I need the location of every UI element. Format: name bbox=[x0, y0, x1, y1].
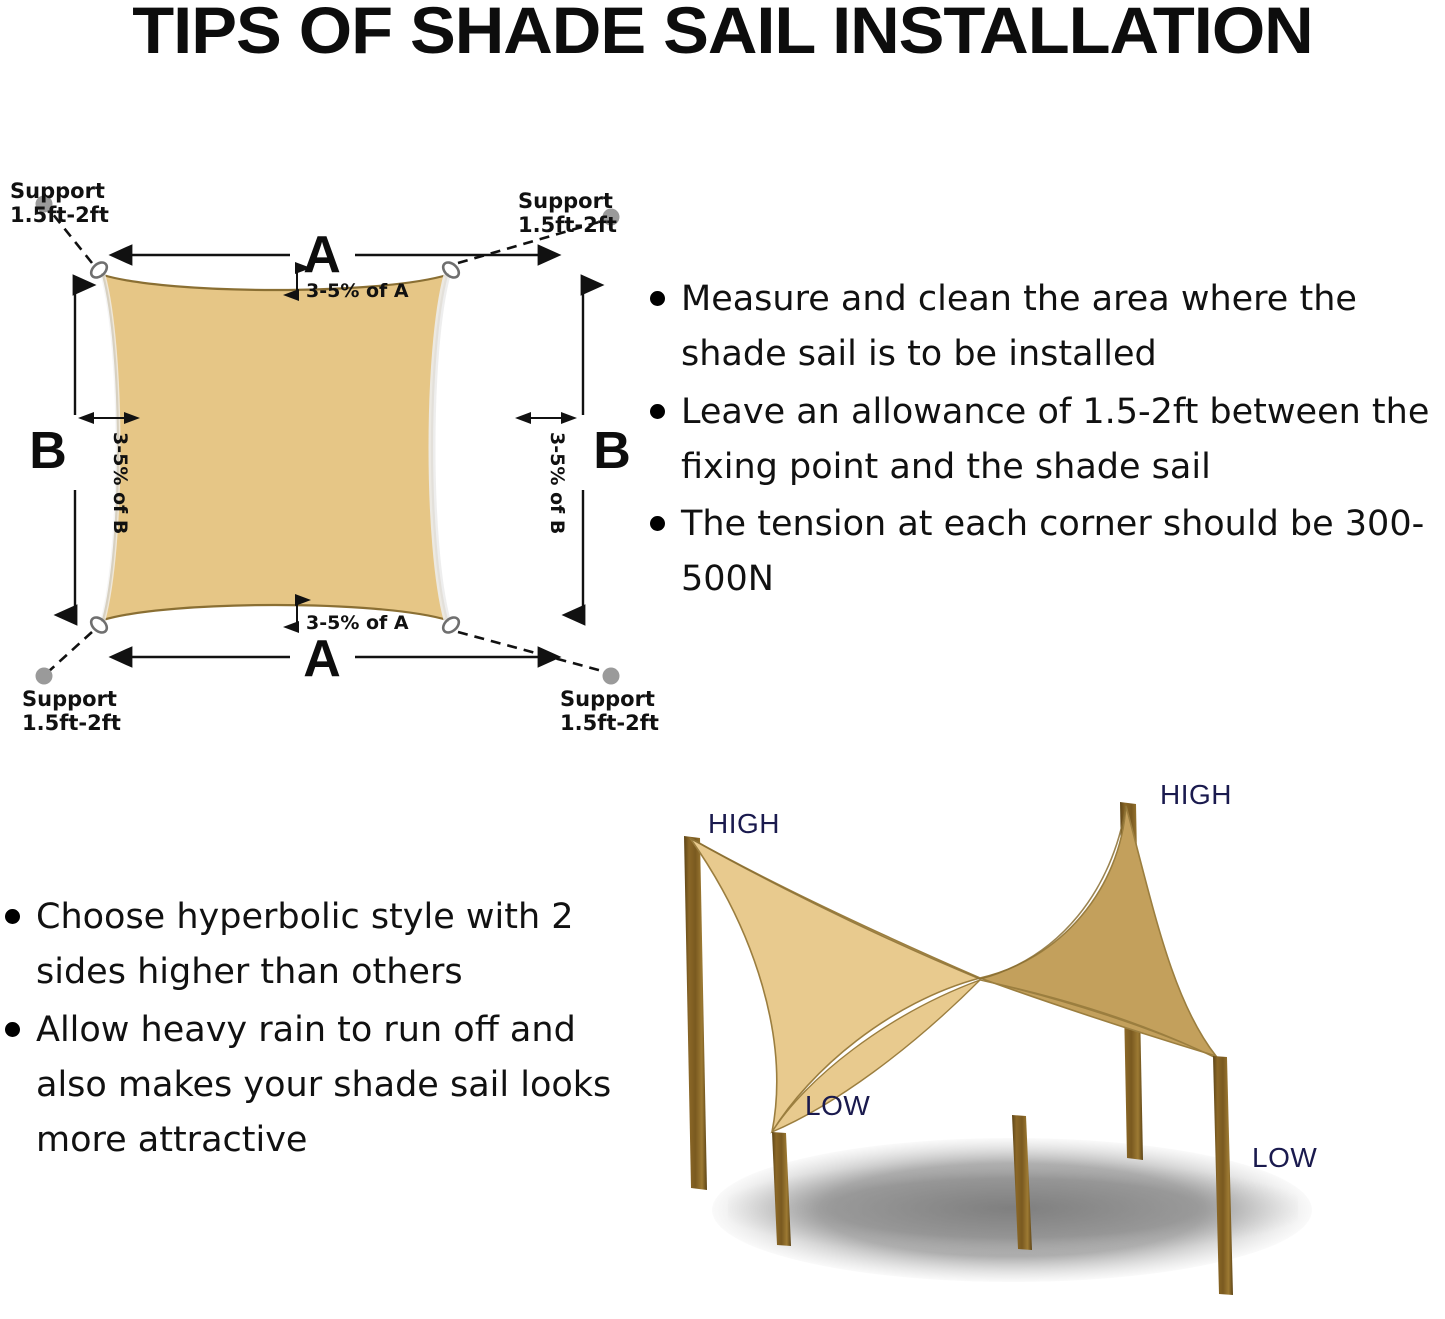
bullet-dot-icon bbox=[650, 404, 665, 419]
tip-item: Leave an allowance of 1.5-2ft between th… bbox=[650, 385, 1445, 496]
support-label-bottom-right: Support 1.5ft-2ft bbox=[560, 688, 659, 735]
support-label-top-left: Support 1.5ft-2ft bbox=[10, 180, 109, 227]
dimension-label-b-right: B bbox=[593, 422, 631, 480]
sag-label-bottom: 3-5% of A bbox=[306, 612, 409, 634]
support-label-bottom-left-line1: Support bbox=[22, 688, 121, 712]
support-label-top-right-line1: Support bbox=[518, 190, 617, 214]
page-title: TIPS OF SHADE SAIL INSTALLATION bbox=[0, 0, 1445, 68]
support-dot-bottom-right bbox=[603, 668, 620, 685]
post-high-left bbox=[684, 836, 707, 1190]
infographic-page: TIPS OF SHADE SAIL INSTALLATION bbox=[0, 0, 1445, 1319]
sag-label-right: 3-5% of B bbox=[546, 432, 568, 534]
support-label-top-right: Support 1.5ft-2ft bbox=[518, 190, 617, 237]
support-label-bottom-left-line2: 1.5ft-2ft bbox=[22, 712, 121, 736]
support-label-bottom-right-line2: 1.5ft-2ft bbox=[560, 712, 659, 736]
label-low-right: LOW bbox=[1252, 1142, 1317, 1174]
tip-text: Choose hyperbolic style with 2 sides hig… bbox=[36, 890, 630, 1001]
sag-label-top: 3-5% of A bbox=[306, 280, 409, 302]
tips-list-left: Choose hyperbolic style with 2 sides hig… bbox=[5, 890, 630, 1170]
bullet-dot-icon bbox=[5, 909, 20, 924]
tip-item: Allow heavy rain to run off and also mak… bbox=[5, 1003, 630, 1169]
support-label-top-left-line2: 1.5ft-2ft bbox=[10, 204, 109, 228]
tips-list-right: Measure and clean the area where the sha… bbox=[650, 272, 1445, 610]
tip-text: Measure and clean the area where the sha… bbox=[681, 272, 1445, 383]
tip-item: Choose hyperbolic style with 2 sides hig… bbox=[5, 890, 630, 1001]
sail-shape bbox=[103, 275, 447, 620]
tip-text: Allow heavy rain to run off and also mak… bbox=[36, 1003, 630, 1169]
sail3d-svg bbox=[660, 780, 1445, 1319]
support-label-bottom-right-line1: Support bbox=[560, 688, 659, 712]
tip-item: The tension at each corner should be 300… bbox=[650, 497, 1445, 608]
shade-sail-dimension-diagram: A A B B 3-5% of A 3-5% of A 3-5% of B 3-… bbox=[0, 160, 640, 730]
label-high-right: HIGH bbox=[1160, 779, 1232, 811]
bullet-dot-icon bbox=[650, 291, 665, 306]
dimension-label-b-left: B bbox=[29, 422, 67, 480]
label-high-left: HIGH bbox=[708, 808, 780, 840]
support-label-top-right-line2: 1.5ft-2ft bbox=[518, 214, 617, 238]
support-dot-bottom-left bbox=[36, 668, 53, 685]
label-low-left: LOW bbox=[805, 1090, 870, 1122]
diagram-svg: A A B B 3-5% of A 3-5% of A 3-5% of B 3-… bbox=[0, 160, 640, 730]
dimension-label-a-top: A bbox=[303, 226, 341, 284]
bullet-dot-icon bbox=[650, 516, 665, 531]
bullet-dot-icon bbox=[5, 1022, 20, 1037]
dimension-label-a-bottom: A bbox=[303, 630, 341, 688]
tip-item: Measure and clean the area where the sha… bbox=[650, 272, 1445, 383]
hyperbolic-sail-illustration: HIGH HIGH LOW LOW bbox=[660, 780, 1445, 1319]
support-label-top-left-line1: Support bbox=[10, 180, 109, 204]
sail-panel-right bbox=[980, 806, 1216, 1056]
sag-label-left: 3-5% of B bbox=[109, 432, 131, 534]
tip-text: The tension at each corner should be 300… bbox=[681, 497, 1445, 608]
tip-text: Leave an allowance of 1.5-2ft between th… bbox=[681, 385, 1445, 496]
support-label-bottom-left: Support 1.5ft-2ft bbox=[22, 688, 121, 735]
ground-shadow-body bbox=[728, 1162, 1298, 1254]
